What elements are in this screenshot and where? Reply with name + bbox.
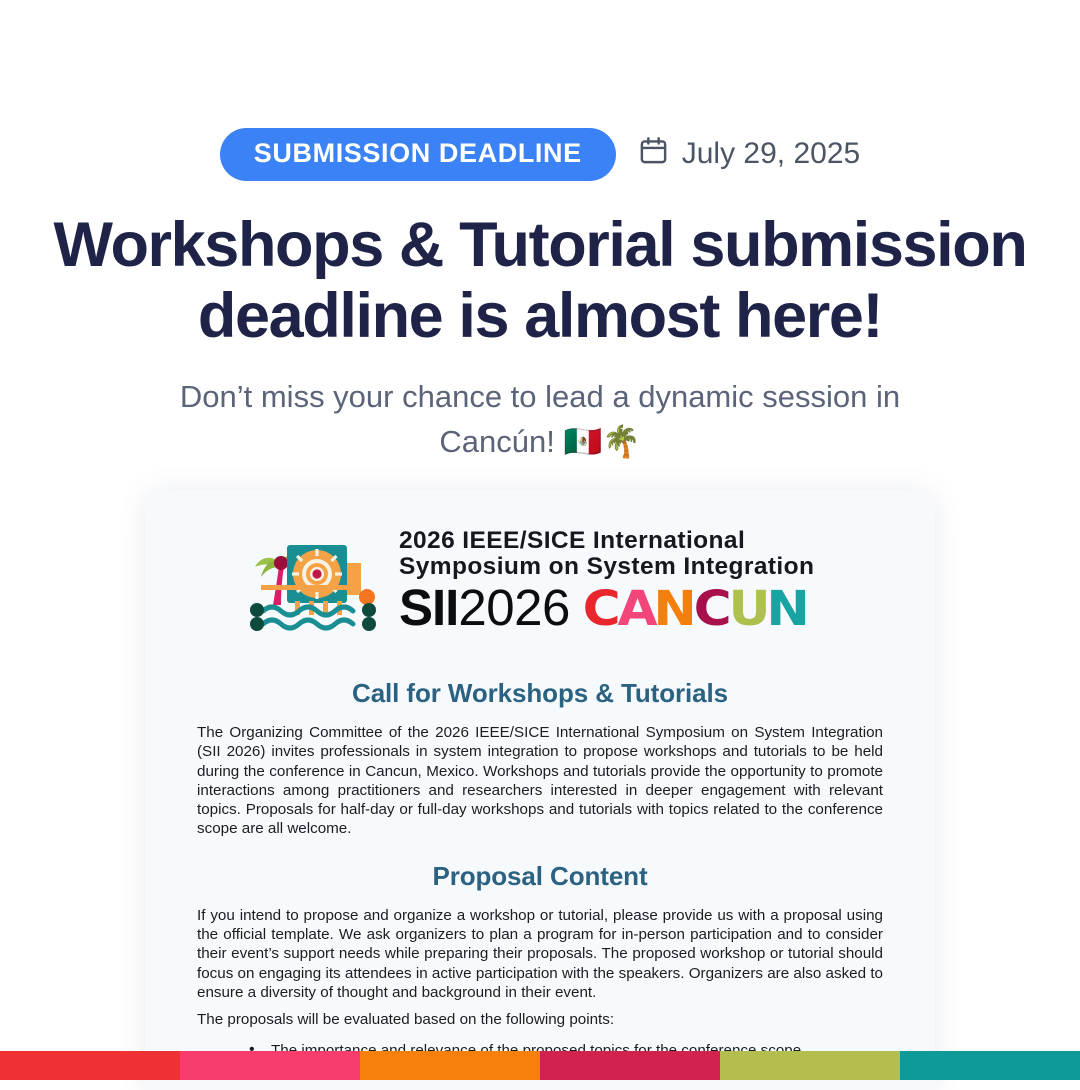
- document-body: Call for Workshops & Tutorials The Organ…: [145, 638, 935, 1060]
- footer-color-band: [360, 1051, 540, 1080]
- footer-color-band: [540, 1051, 720, 1080]
- footer-color-band: [0, 1051, 180, 1080]
- subtitle-text: Don’t miss your chance to lead a dynamic…: [180, 379, 900, 459]
- doc-heading-call-for-workshops: Call for Workshops & Tutorials: [197, 678, 883, 709]
- logo-text-block: 2026 IEEE/SICE International Symposium o…: [399, 528, 814, 633]
- footer-color-strip: [0, 1051, 1080, 1080]
- submission-deadline-badge[interactable]: SUBMISSION DEADLINE: [220, 128, 616, 181]
- doc-heading-proposal-content: Proposal Content: [197, 861, 883, 892]
- logo-city-letter: C: [582, 585, 620, 633]
- logo-city-letter: C: [694, 585, 732, 633]
- logo-city-letter: A: [617, 585, 657, 633]
- logo-year: 2026: [458, 582, 569, 633]
- footer-color-band: [900, 1051, 1080, 1080]
- sii-cancun-logo-icon: [243, 533, 383, 638]
- logo-city: CANCUN: [584, 585, 808, 633]
- doc-paragraph-3: The proposals will be evaluated based on…: [197, 1010, 883, 1029]
- logo-city-letter: N: [767, 585, 810, 633]
- conference-logo: 2026 IEEE/SICE International Symposium o…: [145, 490, 935, 638]
- logo-line-2: Symposium on System Integration: [399, 554, 814, 580]
- logo-acronym: SII: [399, 582, 458, 633]
- page-title: Workshops & Tutorial submission deadline…: [40, 210, 1040, 351]
- logo-line-1: 2026 IEEE/SICE International: [399, 528, 814, 554]
- deadline-date-group: July 29, 2025: [638, 135, 860, 174]
- document-preview-card[interactable]: 2026 IEEE/SICE International Symposium o…: [145, 490, 935, 1090]
- logo-city-letter: N: [654, 585, 697, 633]
- footer-color-band: [720, 1051, 900, 1080]
- doc-paragraph-2: If you intend to propose and organize a …: [197, 906, 883, 1002]
- calendar-icon: [638, 135, 669, 174]
- deadline-date-text: July 29, 2025: [682, 137, 860, 171]
- logo-line-3: SII 2026 CANCUN: [399, 582, 814, 633]
- doc-paragraph-1: The Organizing Committee of the 2026 IEE…: [197, 723, 883, 839]
- flag-palm-emoji: 🇲🇽🌴: [563, 424, 640, 459]
- logo-city-letter: U: [728, 585, 770, 633]
- promo-header: SUBMISSION DEADLINE July 29, 2025 Worksh…: [0, 0, 1080, 465]
- page-subtitle: Don’t miss your chance to lead a dynamic…: [140, 375, 940, 465]
- footer-color-band: [180, 1051, 360, 1080]
- deadline-row: SUBMISSION DEADLINE July 29, 2025: [0, 128, 1080, 180]
